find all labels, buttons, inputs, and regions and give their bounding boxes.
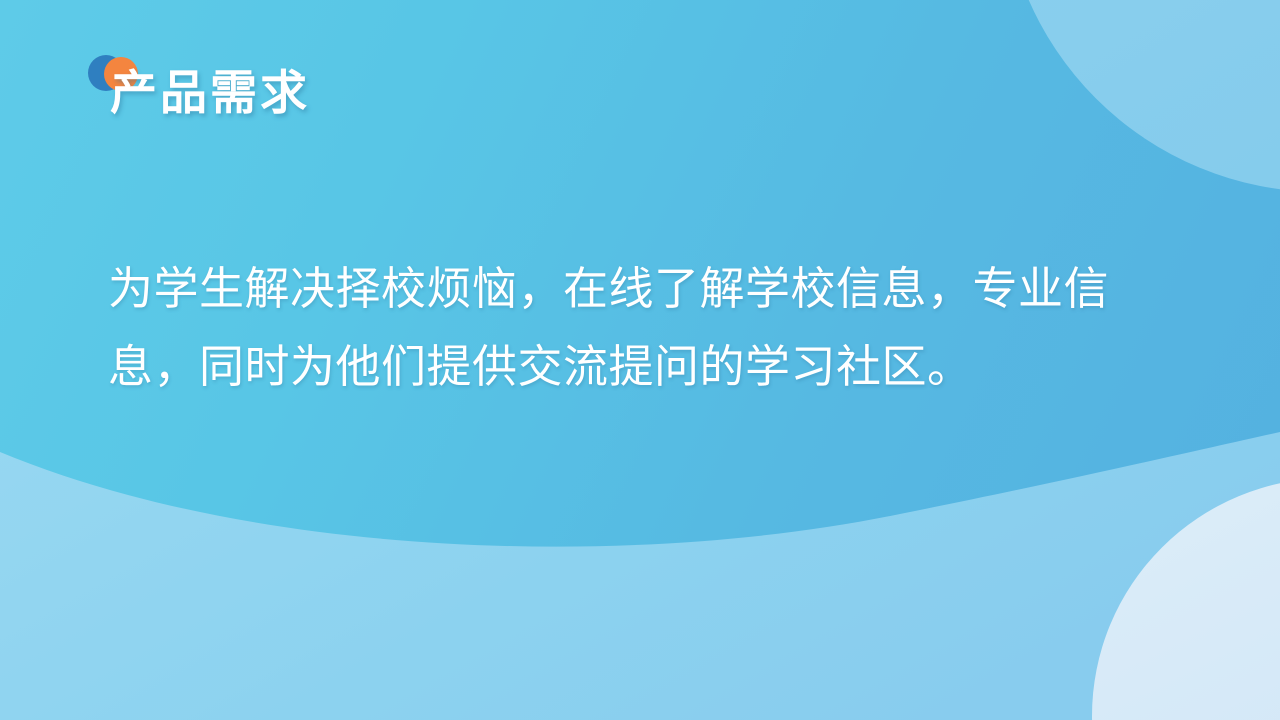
circle-top-right-shape — [1002, 0, 1280, 192]
circle-bottom-right-shape — [1092, 478, 1280, 720]
slide-body-text: 为学生解决择校烦恼，在线了解学校信息，专业信息，同时为他们提供交流提问的学习社区… — [108, 250, 1178, 406]
presentation-slide: 产品需求 为学生解决择校烦恼，在线了解学校信息，专业信息，同时为他们提供交流提问… — [0, 0, 1280, 720]
page-title: 产品需求 — [110, 68, 310, 117]
wave-bottom-shape — [0, 432, 1280, 720]
